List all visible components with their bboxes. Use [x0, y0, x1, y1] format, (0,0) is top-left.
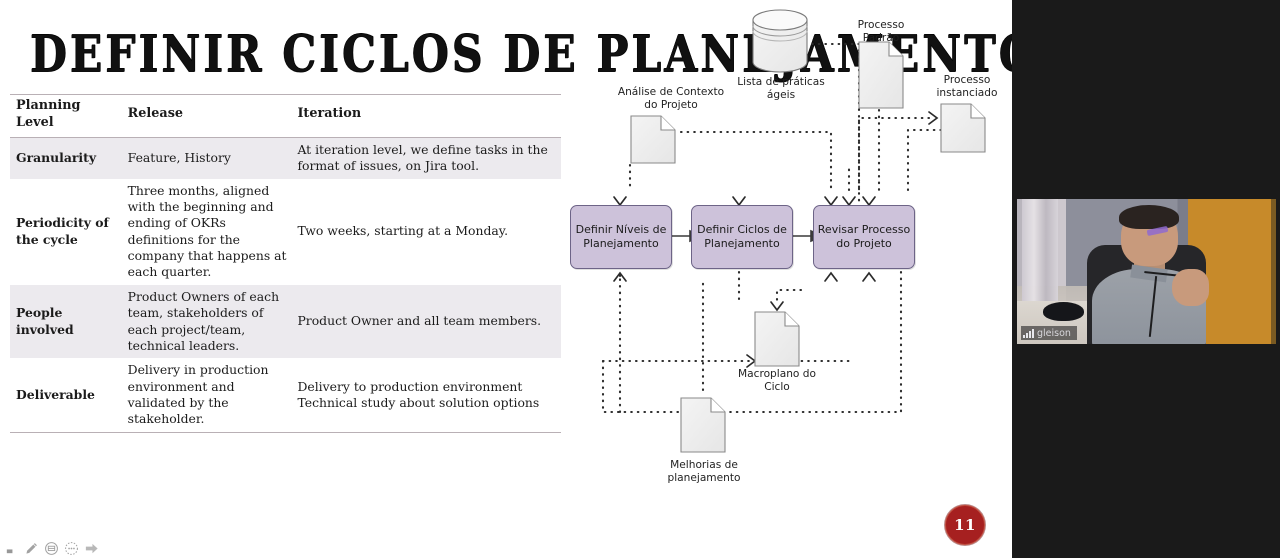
artifact-label-processo-padrao: Processo Padrão: [839, 19, 923, 45]
screen: DEFINIR CICLOS DE PLANEJAMENTO Planning …: [0, 0, 1280, 558]
more-options-icon[interactable]: [64, 541, 79, 556]
participant-name-badge: gleison: [1021, 326, 1077, 340]
cell-release: Three months, aligned with the beginning…: [122, 179, 292, 285]
video-person-hair: [1119, 205, 1179, 230]
slide-number-badge: 11: [945, 505, 985, 545]
cell-iteration: Two weeks, starting at a Monday.: [291, 179, 561, 285]
artifact-macroplano-do-ciclo: [755, 312, 799, 366]
video-cat: [1043, 302, 1084, 321]
table-row: Deliverable Delivery in production envir…: [10, 358, 561, 432]
artifact-processo-padrao: [859, 42, 903, 108]
cell-planning-level: Granularity: [10, 137, 122, 178]
column-header-iteration: Iteration: [291, 95, 561, 138]
table-header-row: Planning Level Release Iteration: [10, 95, 561, 138]
process-box-revisar-processo[interactable]: Revisar Processo do Projeto: [813, 205, 915, 269]
cell-iteration: Delivery to production environment Techn…: [291, 358, 561, 432]
video-curtain: [1022, 199, 1058, 309]
artifact-analise-de-contexto: [631, 116, 675, 163]
webcam-video-tile[interactable]: gleison: [1017, 199, 1276, 344]
presentation-toolbar: [4, 538, 94, 558]
highlighter-icon[interactable]: [44, 541, 59, 556]
artifact-lista-de-praticas-ageis: [753, 10, 807, 72]
cell-release: Product Owners of each team, stakeholder…: [122, 285, 292, 359]
cell-planning-level: Periodicity of the cycle: [10, 179, 122, 285]
pointer-icon[interactable]: [4, 541, 19, 556]
cell-planning-level: Deliverable: [10, 358, 122, 432]
process-box-definir-niveis[interactable]: Definir Níveis de Planejamento: [570, 205, 672, 269]
artifact-label-melhorias: Melhorias de planejamento: [657, 459, 751, 485]
cell-release: Feature, History: [122, 137, 292, 178]
planning-levels-table: Planning Level Release Iteration Granula…: [10, 94, 561, 433]
process-box-definir-ciclos[interactable]: Definir Ciclos de Planejamento: [691, 205, 793, 269]
artifact-processo-instanciado: [941, 104, 985, 152]
cell-release: Delivery in production environment and v…: [122, 358, 292, 432]
artifact-label-processo-instanciado: Processo instanciado: [921, 74, 1012, 100]
presentation-slide: DEFINIR CICLOS DE PLANEJAMENTO Planning …: [0, 0, 1012, 558]
artifact-melhorias-de-planejamento: [681, 398, 725, 452]
artifact-label-lista: Lista de práticas ágeis: [731, 76, 831, 102]
participant-name: gleison: [1037, 328, 1071, 339]
video-person-hand: [1172, 269, 1208, 307]
cell-planning-level: People involved: [10, 285, 122, 359]
cell-iteration: At iteration level, we define tasks in t…: [291, 137, 561, 178]
process-diagram: Análise de Contexto do Projeto Lista de …: [563, 0, 1012, 510]
next-slide-icon[interactable]: [84, 541, 99, 556]
column-header-release: Release: [122, 95, 292, 138]
table-row: Periodicity of the cycle Three months, a…: [10, 179, 561, 285]
signal-bars-icon: [1023, 329, 1034, 338]
pen-icon[interactable]: [24, 541, 39, 556]
table-header: Planning Level Release Iteration: [10, 95, 561, 138]
column-header-planning-level: Planning Level: [10, 95, 122, 138]
cell-iteration: Product Owner and all team members.: [291, 285, 561, 359]
table-body: Granularity Feature, History At iteratio…: [10, 137, 561, 432]
table-row: People involved Product Owners of each t…: [10, 285, 561, 359]
artifact-label-analise: Análise de Contexto do Projeto: [611, 86, 731, 112]
table-row: Granularity Feature, History At iteratio…: [10, 137, 561, 178]
artifact-label-macroplano: Macroplano do Ciclo: [731, 368, 823, 394]
